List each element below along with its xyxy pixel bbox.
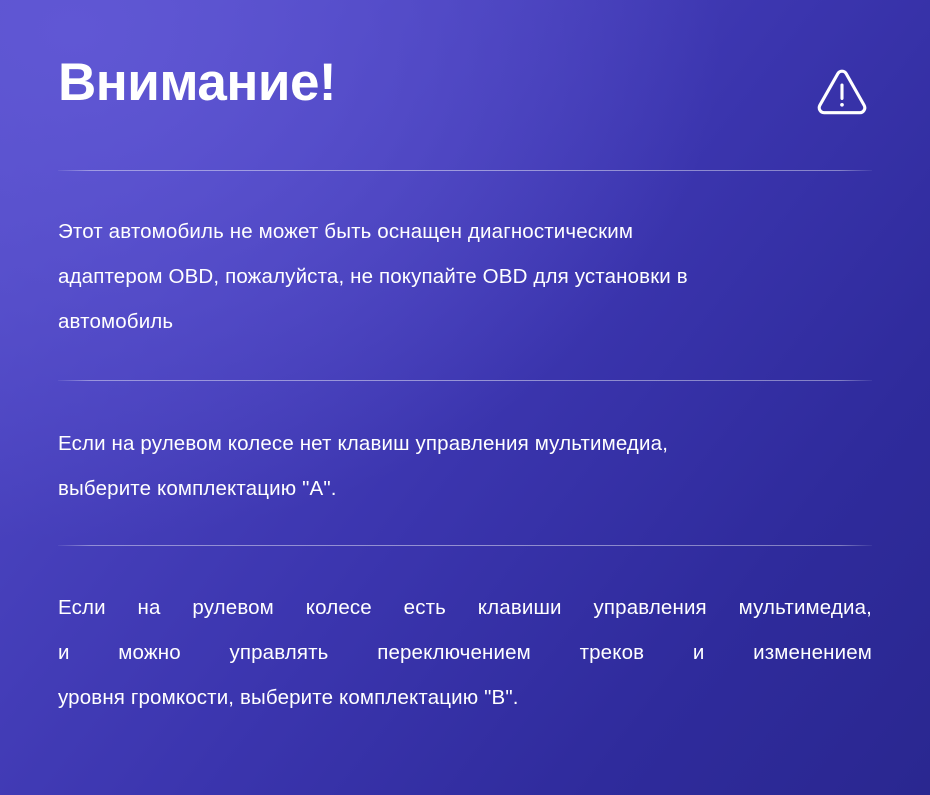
warning-notice-card: Внимание! Этот автомобиль не может быть … bbox=[0, 0, 930, 795]
notice-line: выберите комплектацию "A". bbox=[58, 466, 872, 511]
notice-line: уровня громкости, выберите комплектацию … bbox=[58, 675, 872, 720]
notice-section-trim-b: Если на рулевом колесе есть клавиши упра… bbox=[58, 585, 872, 720]
notice-section-trim-a: Если на рулевом колесе нет клавиш управл… bbox=[58, 421, 872, 511]
notice-section-obd-warning: Этот автомобиль не может быть оснащен ди… bbox=[58, 209, 872, 344]
page-title: Внимание! bbox=[58, 56, 336, 109]
divider-bottom bbox=[58, 545, 872, 546]
notice-line: Если на рулевом колесе есть клавиши упра… bbox=[58, 585, 872, 630]
notice-line: Этот автомобиль не может быть оснащен ди… bbox=[58, 209, 872, 254]
warning-triangle-icon bbox=[814, 64, 870, 120]
divider-middle bbox=[58, 380, 872, 381]
notice-line: Если на рулевом колесе нет клавиш управл… bbox=[58, 421, 872, 466]
notice-line: и можно управлять переключением треков и… bbox=[58, 630, 872, 675]
notice-header: Внимание! bbox=[58, 0, 872, 170]
divider-top bbox=[58, 170, 872, 171]
notice-line: автомобиль bbox=[58, 299, 872, 344]
notice-line: адаптером OBD, пожалуйста, не покупайте … bbox=[58, 254, 872, 299]
